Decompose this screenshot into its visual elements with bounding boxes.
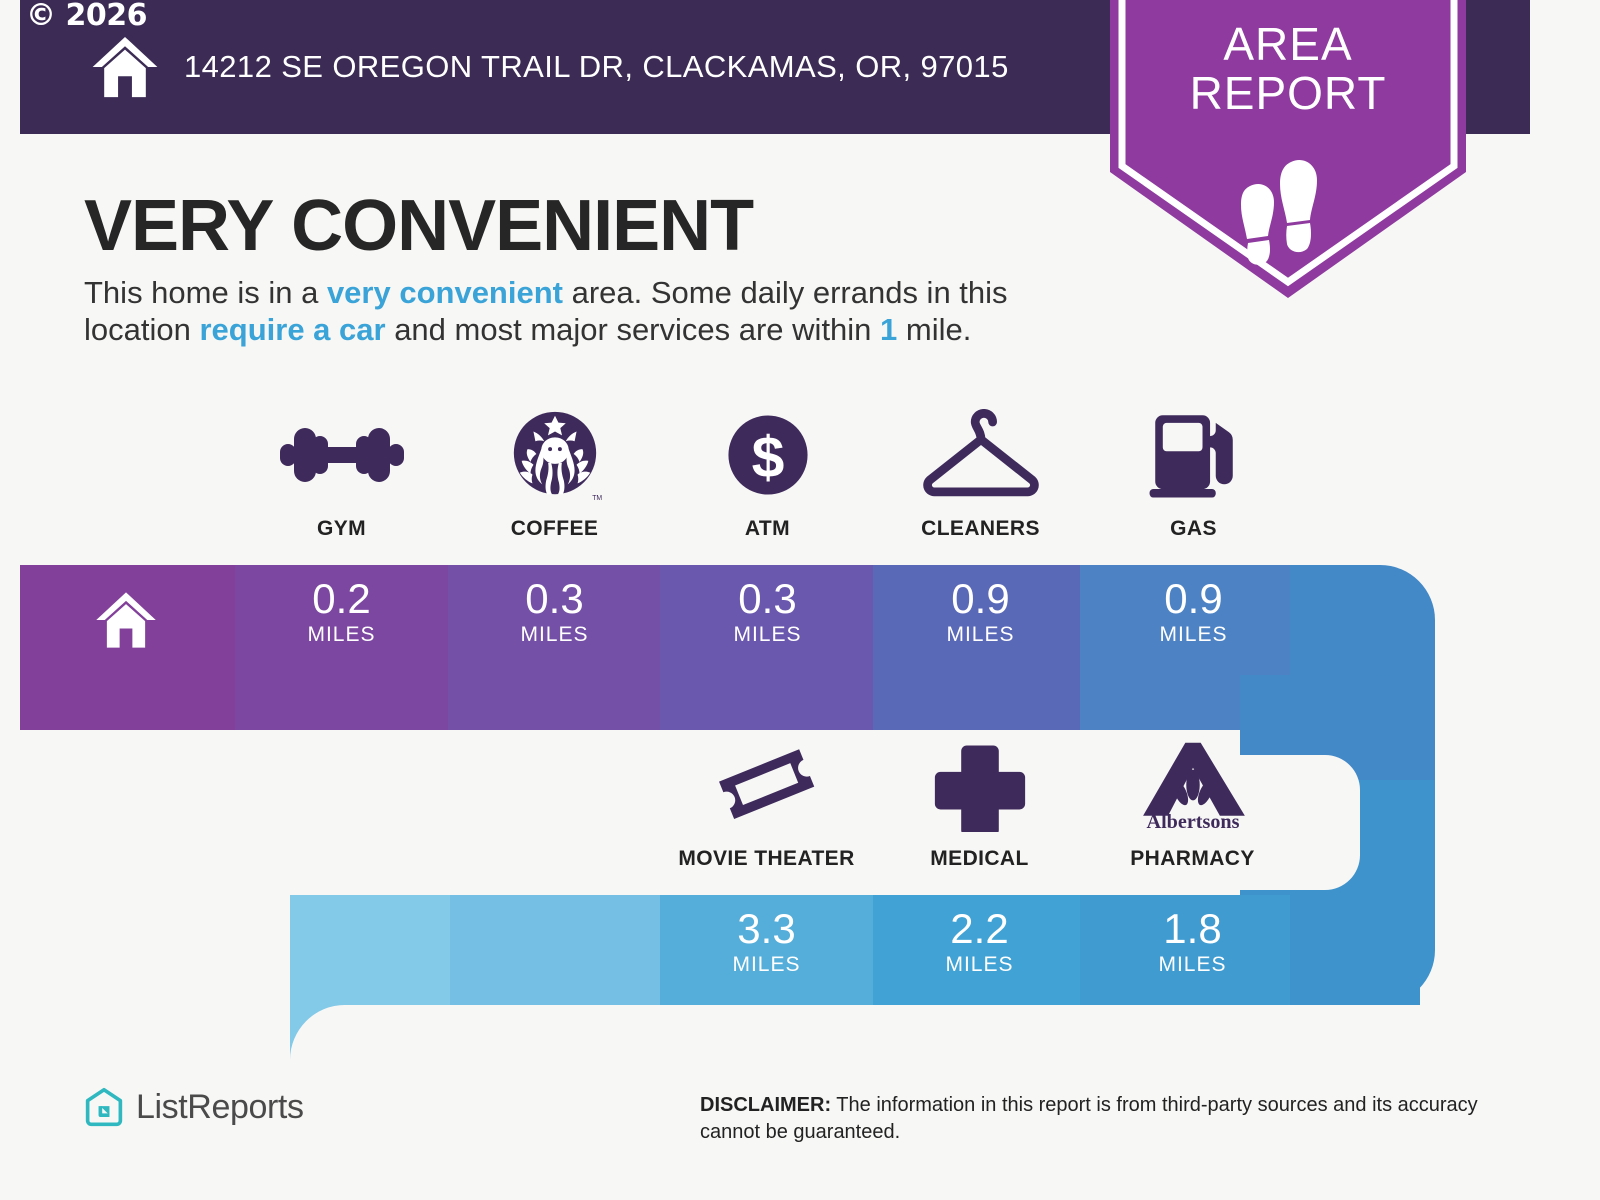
- distance-atm: 0.3 MILES: [661, 578, 874, 647]
- amenity-cleaners: CLEANERS: [874, 405, 1087, 541]
- svg-text:$: $: [751, 425, 784, 490]
- distance-movie-theater: 3.3 MILES: [660, 908, 873, 977]
- distances-row-1: 0.2 MILES 0.3 MILES 0.3 MILES 0.9 MILES …: [235, 578, 1300, 647]
- logo-text: ListReports: [136, 1088, 304, 1127]
- distance-value: 2.2: [873, 908, 1086, 951]
- amenity-label: MOVIE THEATER: [678, 847, 854, 871]
- distance-value: 0.3: [448, 578, 661, 621]
- listreports-logo: ListReports: [84, 1086, 304, 1128]
- disclaimer-label: DISCLAIMER:: [700, 1094, 831, 1116]
- disclaimer: DISCLAIMER: The information in this repo…: [700, 1092, 1490, 1146]
- distance-medical: 2.2 MILES: [873, 908, 1086, 977]
- distance-unit: MILES: [1086, 953, 1299, 977]
- distance-gym: 0.2 MILES: [235, 578, 448, 647]
- distance-value: 0.3: [661, 578, 874, 621]
- amenity-label: GYM: [317, 517, 366, 541]
- copyright-watermark: © 2026: [26, 0, 147, 33]
- distance-value: 1.8: [1086, 908, 1299, 951]
- distance-value: 0.2: [235, 578, 448, 621]
- hanger-icon: [918, 405, 1044, 505]
- svg-text:Albertsons: Albertsons: [1146, 811, 1239, 833]
- badge-label: AREA REPORT: [1110, 20, 1466, 118]
- area-report-badge: AREA REPORT: [1110, 0, 1466, 298]
- amenity-pharmacy: Albertsons PHARMACY: [1086, 735, 1299, 871]
- medical-cross-icon: [933, 735, 1027, 835]
- amenity-icons-row-2: MOVIE THEATER MEDICAL Albertsons PHARMAC…: [660, 735, 1299, 871]
- distance-unit: MILES: [660, 953, 873, 977]
- badge-line-1: AREA: [1223, 18, 1352, 70]
- amenity-medical: MEDICAL: [873, 735, 1086, 871]
- amenity-icons-row-1: GYM: [235, 405, 1300, 541]
- distance-value: 0.9: [874, 578, 1087, 621]
- distance-unit: MILES: [874, 623, 1087, 647]
- distance-unit: MILES: [873, 953, 1086, 977]
- distance-value: 0.9: [1087, 578, 1300, 621]
- distance-value: 3.3: [660, 908, 873, 951]
- amenity-coffee: TM COFFEE: [448, 405, 661, 541]
- gas-pump-icon: [1142, 405, 1246, 505]
- amenity-atm: $ ATM: [661, 405, 874, 541]
- amenity-gym: GYM: [235, 405, 448, 541]
- badge-line-2: REPORT: [1190, 67, 1387, 119]
- amenity-movie-theater: MOVIE THEATER: [660, 735, 873, 871]
- property-address: 14212 SE OREGON TRAIL DR, CLACKAMAS, OR,…: [184, 49, 1009, 85]
- amenity-label: MEDICAL: [930, 847, 1028, 871]
- amenity-label: ATM: [745, 517, 790, 541]
- amenity-label: GAS: [1170, 517, 1217, 541]
- ticket-icon: [714, 735, 820, 835]
- listreports-house-icon: [84, 1086, 124, 1128]
- svg-text:TM: TM: [592, 495, 602, 502]
- distance-unit: MILES: [448, 623, 661, 647]
- distance-coffee: 0.3 MILES: [448, 578, 661, 647]
- home-icon: [88, 30, 162, 104]
- albertsons-icon: Albertsons: [1135, 735, 1251, 835]
- distance-unit: MILES: [661, 623, 874, 647]
- distance-cleaners: 0.9 MILES: [874, 578, 1087, 647]
- dumbbell-icon: [272, 405, 412, 505]
- amenity-label: PHARMACY: [1130, 847, 1255, 871]
- amenity-gas: GAS: [1087, 405, 1300, 541]
- starbucks-icon: TM: [506, 405, 604, 505]
- distance-gas: 0.9 MILES: [1087, 578, 1300, 647]
- distance-pharmacy: 1.8 MILES: [1086, 908, 1299, 977]
- distances-row-2: 3.3 MILES 2.2 MILES 1.8 MILES: [660, 908, 1299, 977]
- amenity-label: CLEANERS: [921, 517, 1040, 541]
- distance-unit: MILES: [235, 623, 448, 647]
- dollar-circle-icon: $: [722, 405, 814, 505]
- amenity-label: COFFEE: [511, 517, 599, 541]
- home-marker-icon: [90, 586, 162, 654]
- distance-unit: MILES: [1087, 623, 1300, 647]
